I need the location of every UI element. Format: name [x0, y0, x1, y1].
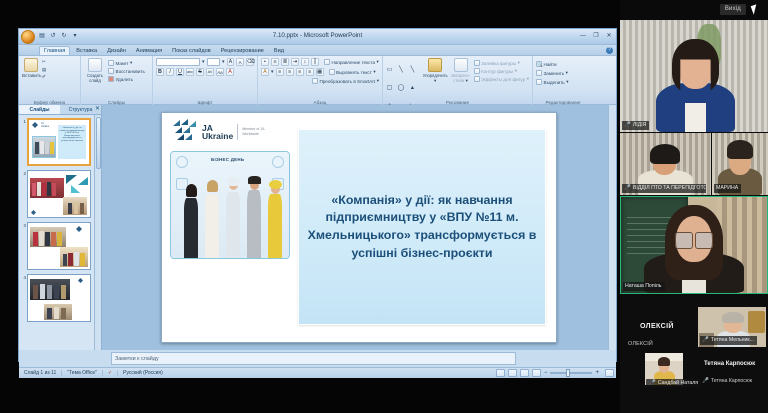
character-spacing-button[interactable]: AV [206, 68, 214, 76]
rectangle-shape-icon[interactable]: ▭ [386, 67, 393, 74]
person-hair [722, 312, 744, 323]
mic-off-icon: 🎤 [702, 378, 709, 384]
quick-styles-icon [454, 58, 468, 72]
tile-name-label: Наташа Попіль [623, 282, 665, 291]
slide-counter: Слайд 1 из 11 [19, 370, 62, 376]
reading-view-button[interactable] [520, 369, 529, 377]
format-painter-button[interactable]: ✐ [42, 74, 46, 80]
participant-name: ЛІДІЯ [633, 122, 647, 129]
theme-name: "Тема Office" [62, 370, 103, 376]
person-hair [727, 140, 754, 159]
increase-indent-button[interactable]: ⇥ [291, 58, 299, 66]
slide-stage: JA Ukraine Member of JA Worldwide БІЗ [102, 105, 616, 350]
person-hair [248, 176, 261, 184]
new-slide-icon [88, 58, 102, 72]
zoom-slider-thumb[interactable] [566, 369, 570, 377]
photo-person-5 [268, 182, 285, 258]
bold-button[interactable]: B [156, 68, 164, 76]
align-text-button[interactable]: Выровнять текст ▾ [329, 69, 376, 75]
ribbon-group-slides: Создать слайд Макет ▾ Восстановить [81, 56, 153, 105]
bullets-button[interactable]: • [261, 58, 269, 66]
thumbnail-number: 1 [21, 118, 26, 124]
select-icon [536, 79, 542, 85]
rounded-rect-icon[interactable]: ▢ [386, 85, 393, 92]
person-body [247, 190, 261, 258]
underline-button[interactable]: U [176, 68, 184, 76]
video-tile-2[interactable]: 🎤 ВІДДІЛ ПТО ТА ПЕРЕПІДГОТОВКИ [620, 133, 711, 195]
text-direction-icon [324, 59, 330, 65]
photo-person-3 [225, 180, 242, 258]
smartart-grid-button[interactable]: ▦ [316, 68, 324, 76]
line-spacing-button[interactable]: ↕ [301, 58, 309, 66]
participant-name: Наташа Попіль [625, 283, 662, 290]
status-bar: Слайд 1 из 11 "Тема Office" ✓ Русский (Р… [19, 367, 616, 378]
font-name-input[interactable] [156, 58, 200, 66]
shape-fill-icon [474, 60, 480, 66]
cut-button[interactable]: ✂ [42, 59, 46, 65]
shape-effects-icon [474, 76, 480, 82]
photo-event-caption: БІЗНЕС ДЕНЬ [211, 157, 244, 162]
screen-root: ▤ ↺ ↻ ▾ 7.10.pptx - Microsoft PowerPoint… [0, 0, 768, 413]
ribbon-group-font: ▾ ▾ A A ⌫ B I U abc S AV Aa A Шриф [153, 56, 258, 105]
tile-name-label: 🎤 Тетяна Мельник... [700, 336, 757, 345]
eyeglasses [675, 232, 693, 249]
slide-canvas[interactable]: JA Ukraine Member of JA Worldwide БІЗ [161, 112, 557, 343]
person-hair [186, 184, 197, 197]
smartart-icon [312, 78, 318, 84]
ja-logo-mark [172, 119, 198, 145]
page-title: «Компанія» у дії: як навчання підприємни… [307, 192, 537, 262]
logo-text: JA Ukraine [202, 124, 233, 141]
tab-home[interactable]: Главная [39, 46, 70, 56]
delete-slide-button[interactable]: Удалить [108, 76, 145, 82]
notes-input[interactable]: Заметки к слайду [111, 352, 516, 365]
participant-name: Тетяна Мельник... [711, 337, 754, 344]
text-highlight-button[interactable]: A [261, 68, 269, 76]
logo-divider [237, 124, 238, 140]
paste-icon [24, 58, 38, 72]
slideshow-button[interactable] [532, 369, 541, 377]
tab-review[interactable]: Рецензирование [217, 47, 268, 56]
tile-name-label-7: 🎤 Тетяна Карпосюк [700, 377, 754, 385]
thumbnail-number: 2 [21, 170, 26, 176]
thumbnail-slide-4[interactable] [27, 274, 91, 322]
shape-outline-icon [474, 68, 480, 74]
close-button[interactable]: ✕ [605, 32, 613, 39]
thumbnail-slide-1[interactable]: JAUkraine «Компанія» у дії: як навчання … [27, 118, 91, 166]
tile-name-label: 🎤 ВІДДІЛ ПТО ТА ПЕРЕПІДГОТОВКИ [622, 184, 706, 193]
video-conference-rail: Вихід 🎤 ЛІДІЯ [620, 0, 768, 413]
notes-pane: Заметки к слайду [19, 350, 616, 367]
list-item[interactable]: 4 [21, 274, 92, 322]
zoom-slider[interactable] [550, 372, 592, 374]
slides-pane: Слайды Структура ✕ 1 JAUkraine [19, 105, 102, 350]
reset-icon [108, 68, 114, 74]
sponsor-logo-left-icon [176, 156, 188, 168]
columns-button[interactable]: ⫿ [311, 58, 319, 66]
ribbon: Вставить ✂ ▤ ✐ Буфер обмена Создать слай… [19, 56, 616, 105]
shapes-more-icon[interactable]: ▴ [409, 85, 416, 92]
slides-pane-scrollbar[interactable] [94, 115, 101, 350]
ribbon-tab-bar: Главная Вставка Дизайн Анимация Показ сл… [19, 45, 616, 56]
numbering-button[interactable]: ≡ [271, 58, 279, 66]
mic-off-icon: 🎤 [624, 185, 631, 192]
tile-name-label-6: 🎤 Сандбай Наталя [646, 379, 701, 387]
shape-fill-button[interactable]: Заливка фигуры ▾ [474, 60, 529, 66]
zoom-in-icon[interactable]: + [595, 370, 599, 376]
shrink-font-button[interactable]: A [236, 58, 244, 66]
arrow-shape-icon[interactable]: ╲ [409, 67, 416, 74]
tile-name-label: МАРИНА [714, 184, 741, 193]
shape-outline-button[interactable]: Контур фигуры ▾ [474, 68, 529, 74]
thumbnail-number: 4 [21, 274, 26, 280]
thumbnail-list: 1 JAUkraine «Компані [19, 115, 94, 350]
video-tile-group-bottom: ОЛЕКСІЙ ОЛЕКСІЙ 🎤 Тетяна Мельник... [620, 295, 768, 413]
italic-button[interactable]: I [166, 68, 174, 76]
text-shadow-button[interactable]: abc [186, 68, 194, 76]
slides-pane-tabs: Слайды Структура [19, 105, 101, 115]
tab-insert[interactable]: Вставка [72, 47, 101, 56]
video-tile-5[interactable]: 🎤 Тетяна Мельник... [698, 307, 766, 347]
list-item[interactable]: 2 [21, 170, 92, 218]
exit-button[interactable]: Вихід [720, 4, 746, 15]
tab-view[interactable]: Вид [270, 47, 288, 56]
thumbnail-number: 3 [21, 222, 26, 228]
convert-to-smartart-button[interactable]: Преобразовать в SmartArt ▾ [312, 78, 379, 84]
person-hair [269, 180, 282, 189]
layout-icon [108, 60, 114, 66]
video-tile-3[interactable]: МАРИНА [712, 133, 768, 195]
align-left-button[interactable]: ≡ [276, 68, 284, 76]
video-tile-4-active-speaker[interactable]: Наташа Попіль [620, 196, 768, 294]
font-size-input[interactable] [207, 58, 220, 66]
zoom-out-icon[interactable]: − [544, 370, 548, 376]
mic-off-icon: 🎤 [702, 337, 709, 344]
language-indicator[interactable]: Русский (Россия) [118, 370, 168, 376]
ribbon-group-editing: 🔍 Найти Заменить ▾ Выделить ▾ Редактиров… [533, 56, 593, 105]
new-slide-button[interactable]: Создать слайд [84, 58, 106, 83]
align-center-button[interactable]: ≡ [286, 68, 294, 76]
arrange-icon [428, 58, 442, 72]
tile-name-label: 🎤 ЛІДІЯ [622, 121, 649, 130]
person-hair [207, 180, 218, 192]
person-hair [658, 357, 671, 366]
audio-only-name-large: ОЛЕКСІЙ [640, 323, 674, 330]
participant-name: Тетяна Карпосюк [711, 378, 752, 384]
window-controls: — ❐ ✕ [579, 32, 613, 39]
spellcheck-icon[interactable]: ✓ [103, 370, 118, 376]
minimize-button[interactable]: — [579, 33, 587, 39]
tab-slideshow[interactable]: Показ слайдов [168, 47, 215, 56]
sponsor-logo-right-icon [272, 156, 284, 168]
person-body [226, 192, 240, 258]
text-direction-button[interactable]: Направление текста ▾ [324, 59, 379, 65]
window-title: 7.10.pptx - Microsoft PowerPoint [19, 32, 616, 39]
ribbon-group-paragraph: • ≡ ≣ ⇥ ↕ ⫿ Направление текста ▾ A ▾ ≡ ≡ [258, 56, 383, 105]
audio-only-name-karposiuk: Тетяна Карпосюк [704, 361, 755, 367]
participant-name: МАРИНА [716, 185, 738, 192]
close-pane-icon[interactable]: ✕ [95, 105, 100, 112]
logo-ukraine: Ukraine [202, 132, 233, 141]
ribbon-group-drawing: ▭ ╲ ╲ ▢ ◯ ▴ △ ┐ ∟ ⇨ ◇ [383, 56, 533, 105]
person-body [268, 194, 282, 258]
powerpoint-window: ▤ ↺ ↻ ▾ 7.10.pptx - Microsoft PowerPoint… [18, 28, 617, 362]
font-color-button[interactable]: A [226, 68, 234, 76]
eyeglasses [695, 232, 713, 249]
person-body [205, 194, 219, 258]
replace-button[interactable]: Заменить ▾ [536, 70, 590, 76]
select-button[interactable]: Выделить ▾ [536, 79, 590, 85]
person-hair [650, 144, 680, 164]
search-icon: 🔍 [536, 61, 542, 67]
ribbon-group-clipboard: Вставить ✂ ▤ ✐ Буфер обмена [19, 56, 81, 105]
tab-design[interactable]: Дизайн [103, 47, 130, 56]
person-hair [227, 177, 240, 186]
thumbnail-slide-2[interactable] [27, 170, 91, 218]
oval-shape-icon[interactable]: ◯ [397, 85, 404, 92]
clear-formatting-button[interactable]: ⌫ [246, 58, 254, 66]
person-body [184, 198, 198, 258]
reset-button[interactable]: Восстановить [108, 68, 145, 74]
align-text-icon [329, 69, 335, 75]
strikethrough-button[interactable]: S [196, 68, 204, 76]
logo-member-line: Member of JA Worldwide [242, 127, 272, 136]
window-title-bar: ▤ ↺ ↻ ▾ 7.10.pptx - Microsoft PowerPoint… [19, 29, 616, 45]
mic-off-icon: 🎤 [649, 380, 656, 386]
layout-button[interactable]: Макет ▾ [108, 60, 145, 66]
slide-title-placeholder[interactable]: «Компанія» у дії: як навчання підприємни… [298, 129, 546, 325]
participant-name: Сандбай Наталя [658, 380, 698, 386]
decrease-indent-button[interactable]: ≣ [281, 58, 289, 66]
line-shape-icon[interactable]: ╲ [397, 67, 404, 74]
status-right-controls: − + [496, 369, 614, 377]
list-item[interactable]: 1 JAUkraine «Компані [21, 118, 92, 166]
slide-sorter-button[interactable] [508, 369, 517, 377]
justify-button[interactable]: ≡ [306, 68, 314, 76]
grow-font-button[interactable]: A [227, 58, 235, 66]
photo-person-1 [183, 186, 199, 258]
work-area: Слайды Структура ✕ 1 JAUkraine [19, 105, 616, 350]
slide-scrollbar[interactable] [608, 105, 616, 350]
slide-photo[interactable]: БІЗНЕС ДЕНЬ [170, 151, 290, 259]
change-case-button[interactable]: Aa [216, 68, 224, 76]
paste-button[interactable]: Вставить [22, 58, 40, 78]
align-right-button[interactable]: ≡ [296, 68, 304, 76]
mic-off-icon: 🎤 [624, 122, 631, 129]
fit-to-window-button[interactable] [605, 369, 614, 377]
conference-top-bar: Вихід [620, 0, 768, 20]
list-item[interactable]: 3 [21, 222, 92, 270]
delete-icon [108, 76, 114, 82]
mouse-cursor [751, 4, 760, 15]
ja-ukraine-logo: JA Ukraine Member of JA Worldwide [172, 119, 272, 145]
tab-animations[interactable]: Анимация [132, 47, 166, 56]
shape-effects-button[interactable]: Эффекты для фигур ▾ [474, 76, 529, 82]
participant-name: ВІДДІЛ ПТО ТА ПЕРЕПІДГОТОВКИ [633, 185, 706, 192]
help-icon[interactable]: ? [606, 47, 613, 54]
copy-button[interactable]: ▤ [42, 67, 46, 73]
restore-button[interactable]: ❐ [592, 32, 600, 39]
find-button[interactable]: 🔍 Найти [536, 61, 590, 67]
thumbnail-slide-3[interactable] [27, 222, 91, 270]
photo-person-2 [204, 182, 221, 258]
audio-only-name-small: ОЛЕКСІЙ [628, 341, 653, 347]
normal-view-button[interactable] [496, 369, 505, 377]
replace-icon [536, 70, 542, 76]
video-tile-1[interactable]: 🎤 ЛІДІЯ [620, 20, 768, 132]
tab-slides-thumbnails[interactable]: Слайды [19, 105, 60, 114]
scrollbar-thumb[interactable] [96, 117, 101, 169]
photo-person-4 [246, 178, 264, 258]
